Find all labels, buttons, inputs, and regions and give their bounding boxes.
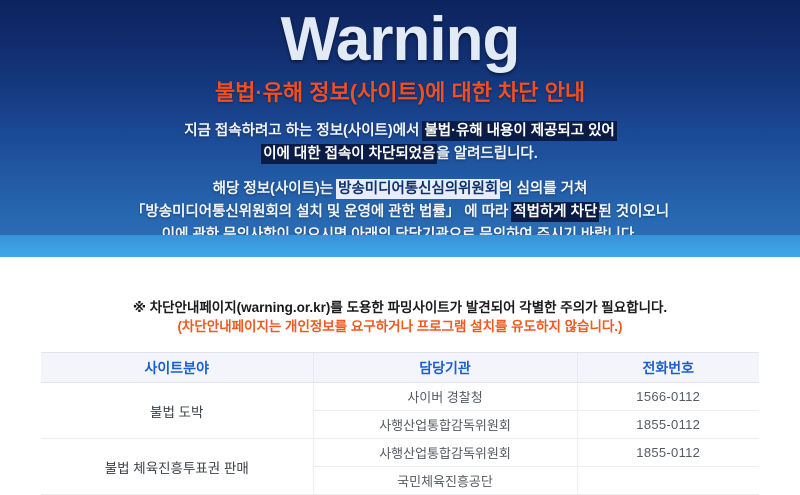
paragraph-two-line-one-after: 의 심의를 거쳐 [499,181,587,197]
warning-banner: Warning 불법·유해 정보(사이트)에 대한 차단 안내 지금 접속하려고… [0,0,800,257]
cell-phone: 1566-0112 [577,383,759,411]
cell-agency: 사행산업통합감독위원회 [313,439,577,467]
cell-agency: 국민체육진흥공단 [313,467,577,495]
agency-contact-table: 사이트분야 담당기관 전화번호 불법 도박 사이버 경찰청 1566-0112 … [41,352,759,495]
paragraph-two-highlight-agency: 방송미디어통신심의위원회 [337,180,499,198]
paragraph-two-line-two-before: 「방송미디어통신위원회의 설치 및 운영에 관한 법률」 에 따라 [131,204,512,220]
notice-paragraph-one: 지금 접속하려고 하는 정보(사이트)에서 불법·유해 내용이 제공되고 있어 … [0,120,800,166]
table-body: 불법 도박 사이버 경찰청 1566-0112 사행산업통합감독위원회 1855… [41,383,759,495]
column-header-field: 사이트분야 [41,353,313,383]
paragraph-one-highlight-one: 불법·유해 내용이 제공되고 있어 [423,122,615,140]
phishing-notice-line-one: ※ 차단안내페이지(warning.or.kr)를 도용한 파밍사이트가 발견되… [0,298,800,317]
paragraph-two-line-one: 해당 정보(사이트)는 방송미디어통신심의위원회의 심의를 거쳐 [0,178,800,201]
cell-phone: 1855-0112 [577,439,759,467]
cell-phone: 1855-0112 [577,411,759,439]
paragraph-two-line-two-after: 된 것이오니 [598,204,669,220]
cell-field: 불법 도박 [41,383,313,439]
phishing-notice-line-two: (차단안내페이지는 개인정보를 요구하거나 프로그램 설치를 유도하지 않습니다… [0,317,800,336]
paragraph-one-highlight-two: 이에 대한 접속이 차단되었음 [262,145,436,163]
column-header-phone: 전화번호 [577,353,759,383]
paragraph-one-line-one: 지금 접속하려고 하는 정보(사이트)에서 불법·유해 내용이 제공되고 있어 [0,120,800,143]
paragraph-two-line-two: 「방송미디어통신위원회의 설치 및 운영에 관한 법률」 에 따라 적법하게 차… [0,201,800,224]
cell-phone [577,467,759,495]
paragraph-two-highlight-legal: 적법하게 차단 [512,203,598,221]
paragraph-two-line-one-before: 해당 정보(사이트)는 [213,181,337,197]
banner-light-band [0,235,800,257]
paragraph-one-line-two: 이에 대한 접속이 차단되었음을 알려드립니다. [0,143,800,166]
paragraph-one-line-one-text: 지금 접속하려고 하는 정보(사이트)에서 [184,123,423,139]
table-row: 불법 도박 사이버 경찰청 1566-0112 [41,383,759,411]
column-header-agency: 담당기관 [313,353,577,383]
cell-field: 불법 체육진흥투표권 판매 [41,439,313,495]
table-row: 불법 체육진흥투표권 판매 사행산업통합감독위원회 1855-0112 [41,439,759,467]
cell-agency: 사이버 경찰청 [313,383,577,411]
table-header-row: 사이트분야 담당기관 전화번호 [41,353,759,383]
page-title: Warning [0,6,800,74]
paragraph-one-line-two-text: 을 알려드립니다. [436,146,537,162]
phishing-notice: ※ 차단안내페이지(warning.or.kr)를 도용한 파밍사이트가 발견되… [0,298,800,336]
page-subtitle: 불법·유해 정보(사이트)에 대한 차단 안내 [0,79,800,107]
cell-agency: 사행산업통합감독위원회 [313,411,577,439]
